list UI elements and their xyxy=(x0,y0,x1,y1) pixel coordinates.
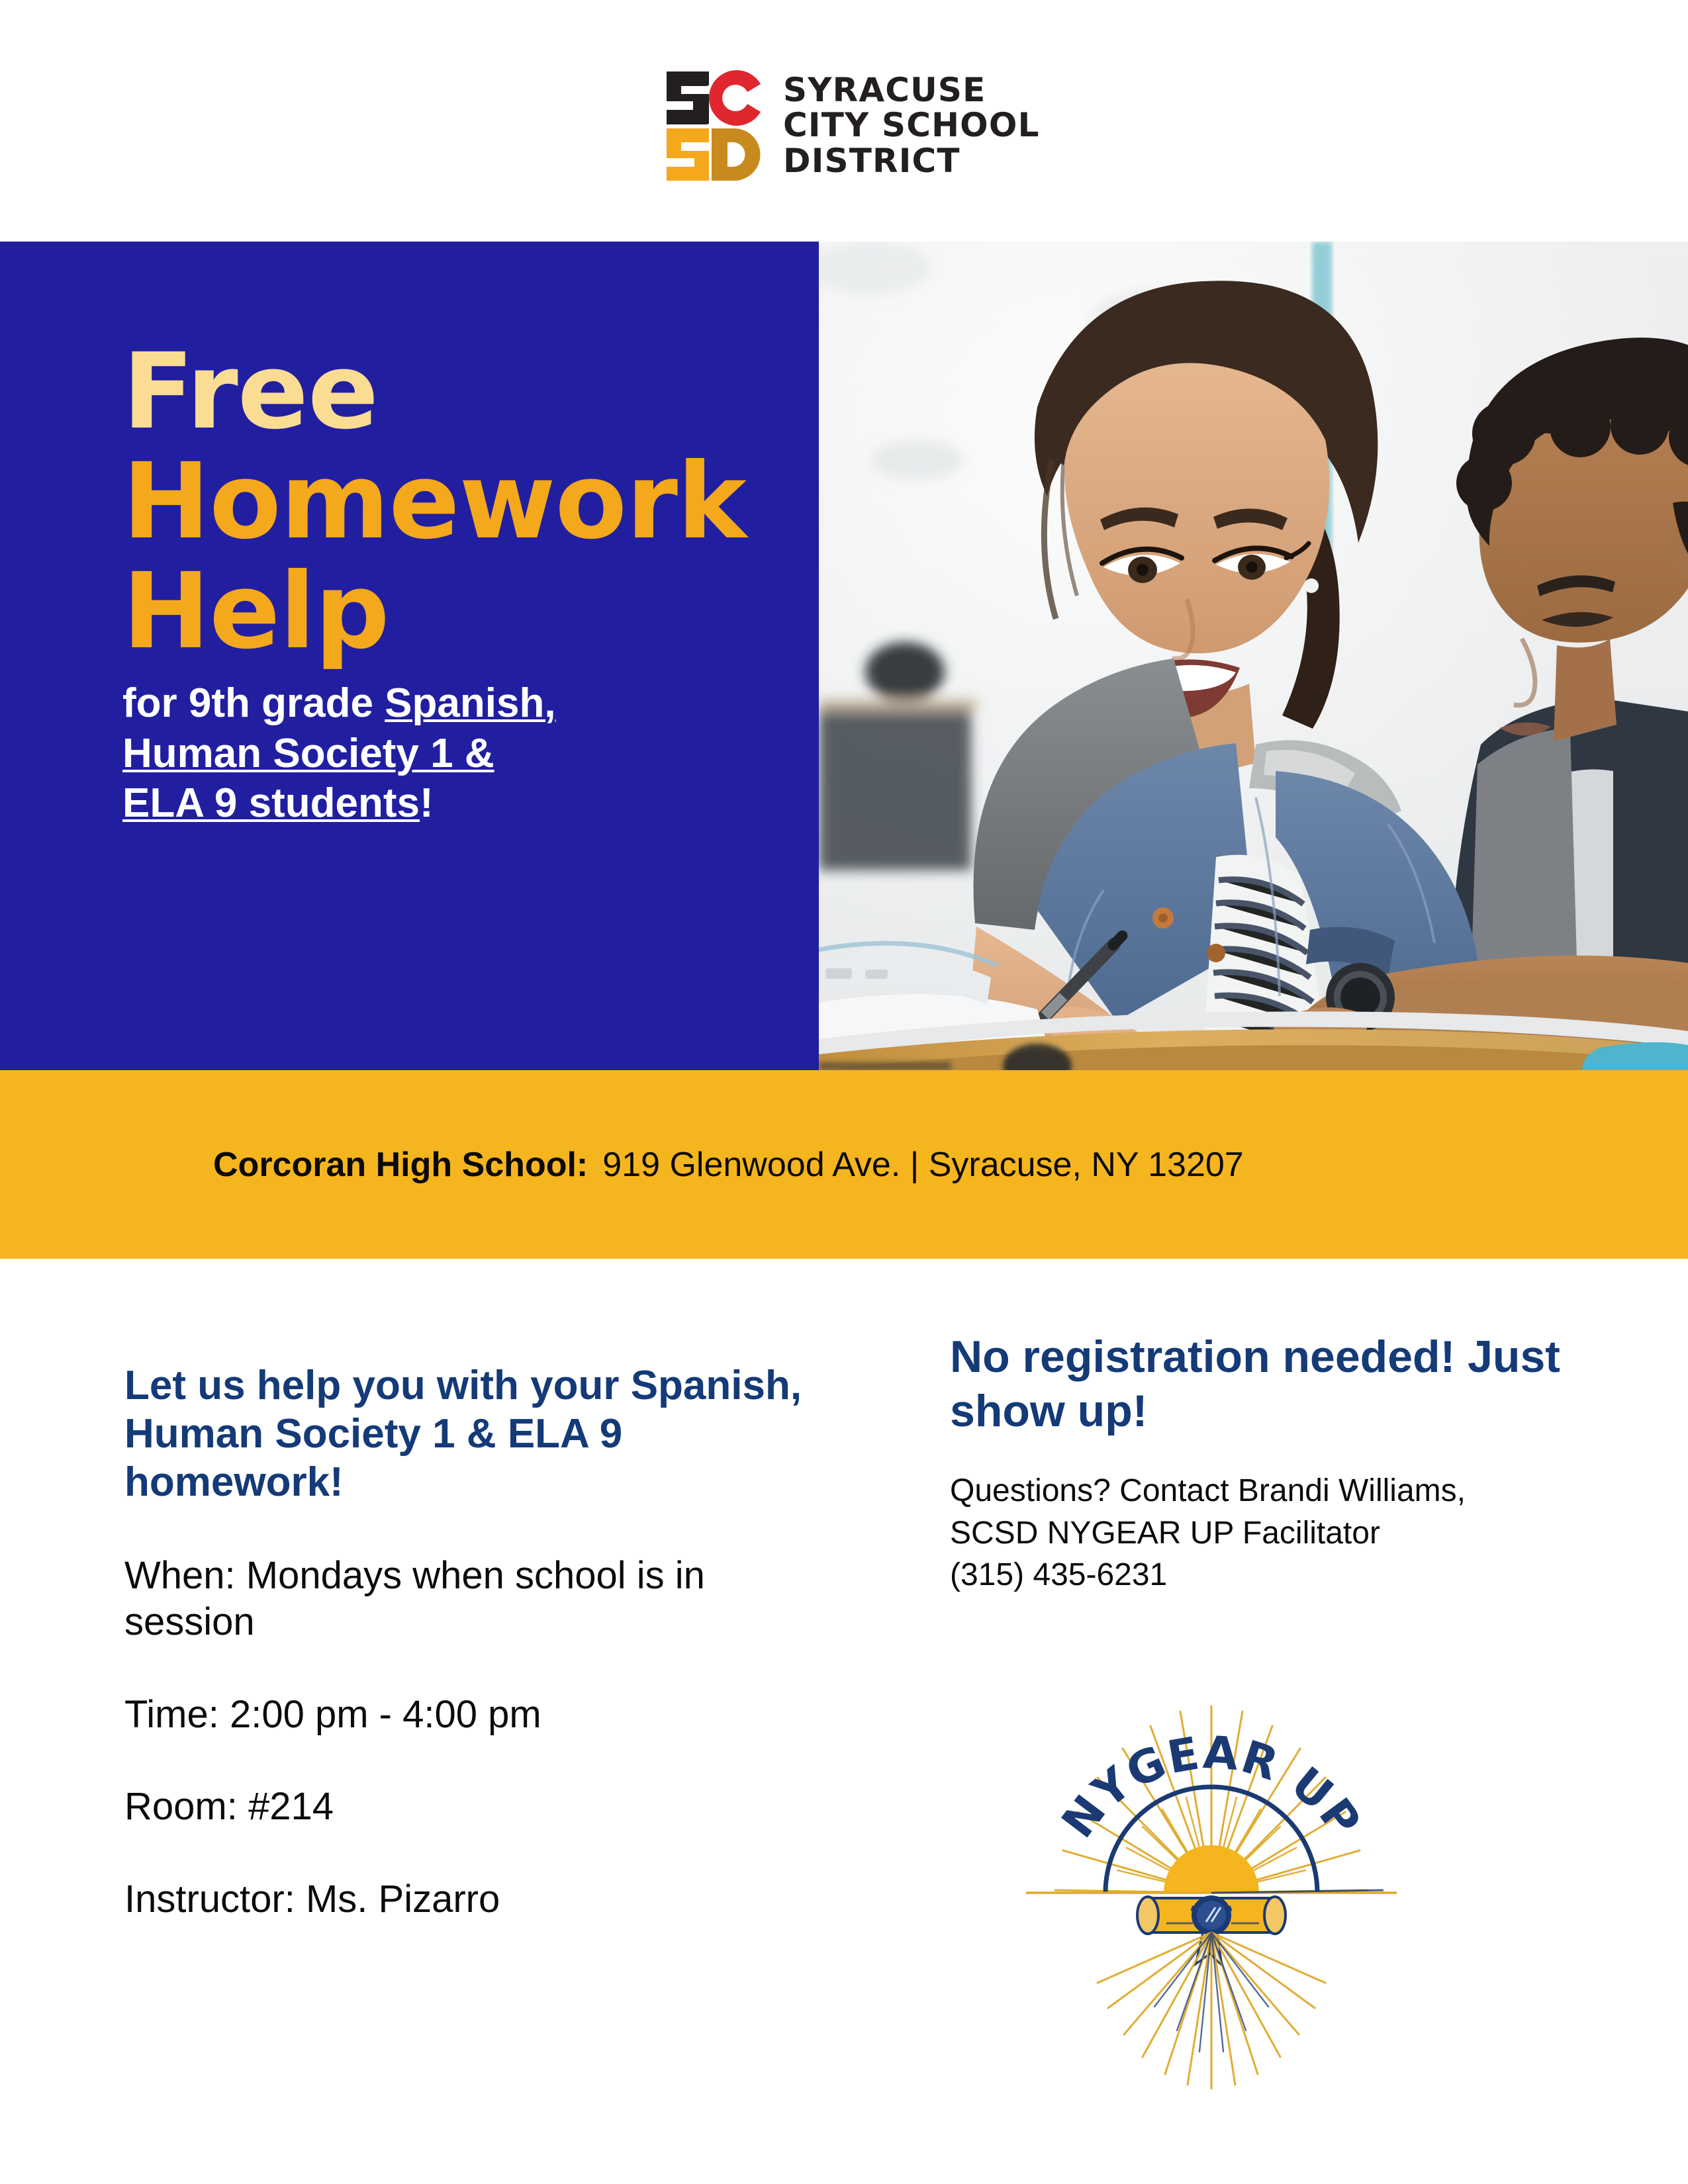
hero-subtitle: for 9th grade Spanish, Human Society 1 &… xyxy=(122,678,784,829)
hero-subtitle-suffix: ! xyxy=(420,780,434,826)
address-band: Corcoran High School:919 Glenwood Ave. |… xyxy=(0,1070,1688,1259)
address-text: Corcoran High School:919 Glenwood Ave. |… xyxy=(213,1145,1244,1185)
contact-block: Questions? Contact Brandi Williams, SCSD… xyxy=(950,1470,1625,1596)
nygear-up-logo: NYGEAR UP xyxy=(1013,1694,1410,2105)
page-header: SYRACUSE CITY SCHOOL DISTRICT xyxy=(0,0,1688,242)
left-column: Let us help you with your Spanish, Human… xyxy=(124,1361,826,1922)
contact-person: Questions? Contact Brandi Williams, xyxy=(950,1470,1625,1512)
scsd-logo-line2: CITY SCHOOL xyxy=(783,108,1040,144)
right-column-heading: No registration needed! Just show up! xyxy=(950,1330,1625,1438)
scsd-logo-wordmark: SYRACUSE CITY SCHOOL DISTRICT xyxy=(783,73,1040,179)
scsd-logo-mark-icon xyxy=(665,66,763,185)
contact-phone: (315) 435-6231 xyxy=(950,1554,1625,1596)
hero-title-line1: Free xyxy=(122,338,791,447)
hero-subtitle-course-2: Human Society 1 & xyxy=(122,731,494,776)
hero-title-line3: Help xyxy=(122,557,791,667)
detail-time: Time: 2:00 pm - 4:00 pm xyxy=(124,1692,826,1738)
hero-subtitle-prefix: for 9th grade xyxy=(122,680,385,726)
scsd-logo-line1: SYRACUSE xyxy=(783,73,1040,109)
scsd-logo-line3: DISTRICT xyxy=(783,144,1040,179)
scsd-logo: SYRACUSE CITY SCHOOL DISTRICT xyxy=(665,66,1040,185)
students-studying-photo xyxy=(819,242,1688,1070)
left-column-heading: Let us help you with your Spanish, Human… xyxy=(124,1361,826,1506)
school-name-label: Corcoran High School: xyxy=(213,1146,588,1184)
hero-title: Free Homework Help xyxy=(122,338,791,667)
school-address: 919 Glenwood Ave. | Syracuse, NY 13207 xyxy=(602,1146,1243,1184)
detail-instructor: Instructor: Ms. Pizarro xyxy=(124,1876,826,1923)
hero-subtitle-course-3: ELA 9 students xyxy=(122,780,420,826)
hero-section: Free Homework Help for 9th grade Spanish… xyxy=(0,242,1688,1070)
detail-room: Room: #214 xyxy=(124,1784,826,1830)
details-section: Let us help you with your Spanish, Human… xyxy=(0,1259,1688,2184)
hero-title-line2: Homework xyxy=(122,447,791,557)
right-column: No registration needed! Just show up! Qu… xyxy=(950,1330,1625,1596)
hero-subtitle-course-1: Spanish, xyxy=(385,680,555,726)
contact-role: SCSD NYGEAR UP Facilitator xyxy=(950,1512,1625,1554)
detail-when: When: Mondays when school is in session xyxy=(124,1553,826,1645)
